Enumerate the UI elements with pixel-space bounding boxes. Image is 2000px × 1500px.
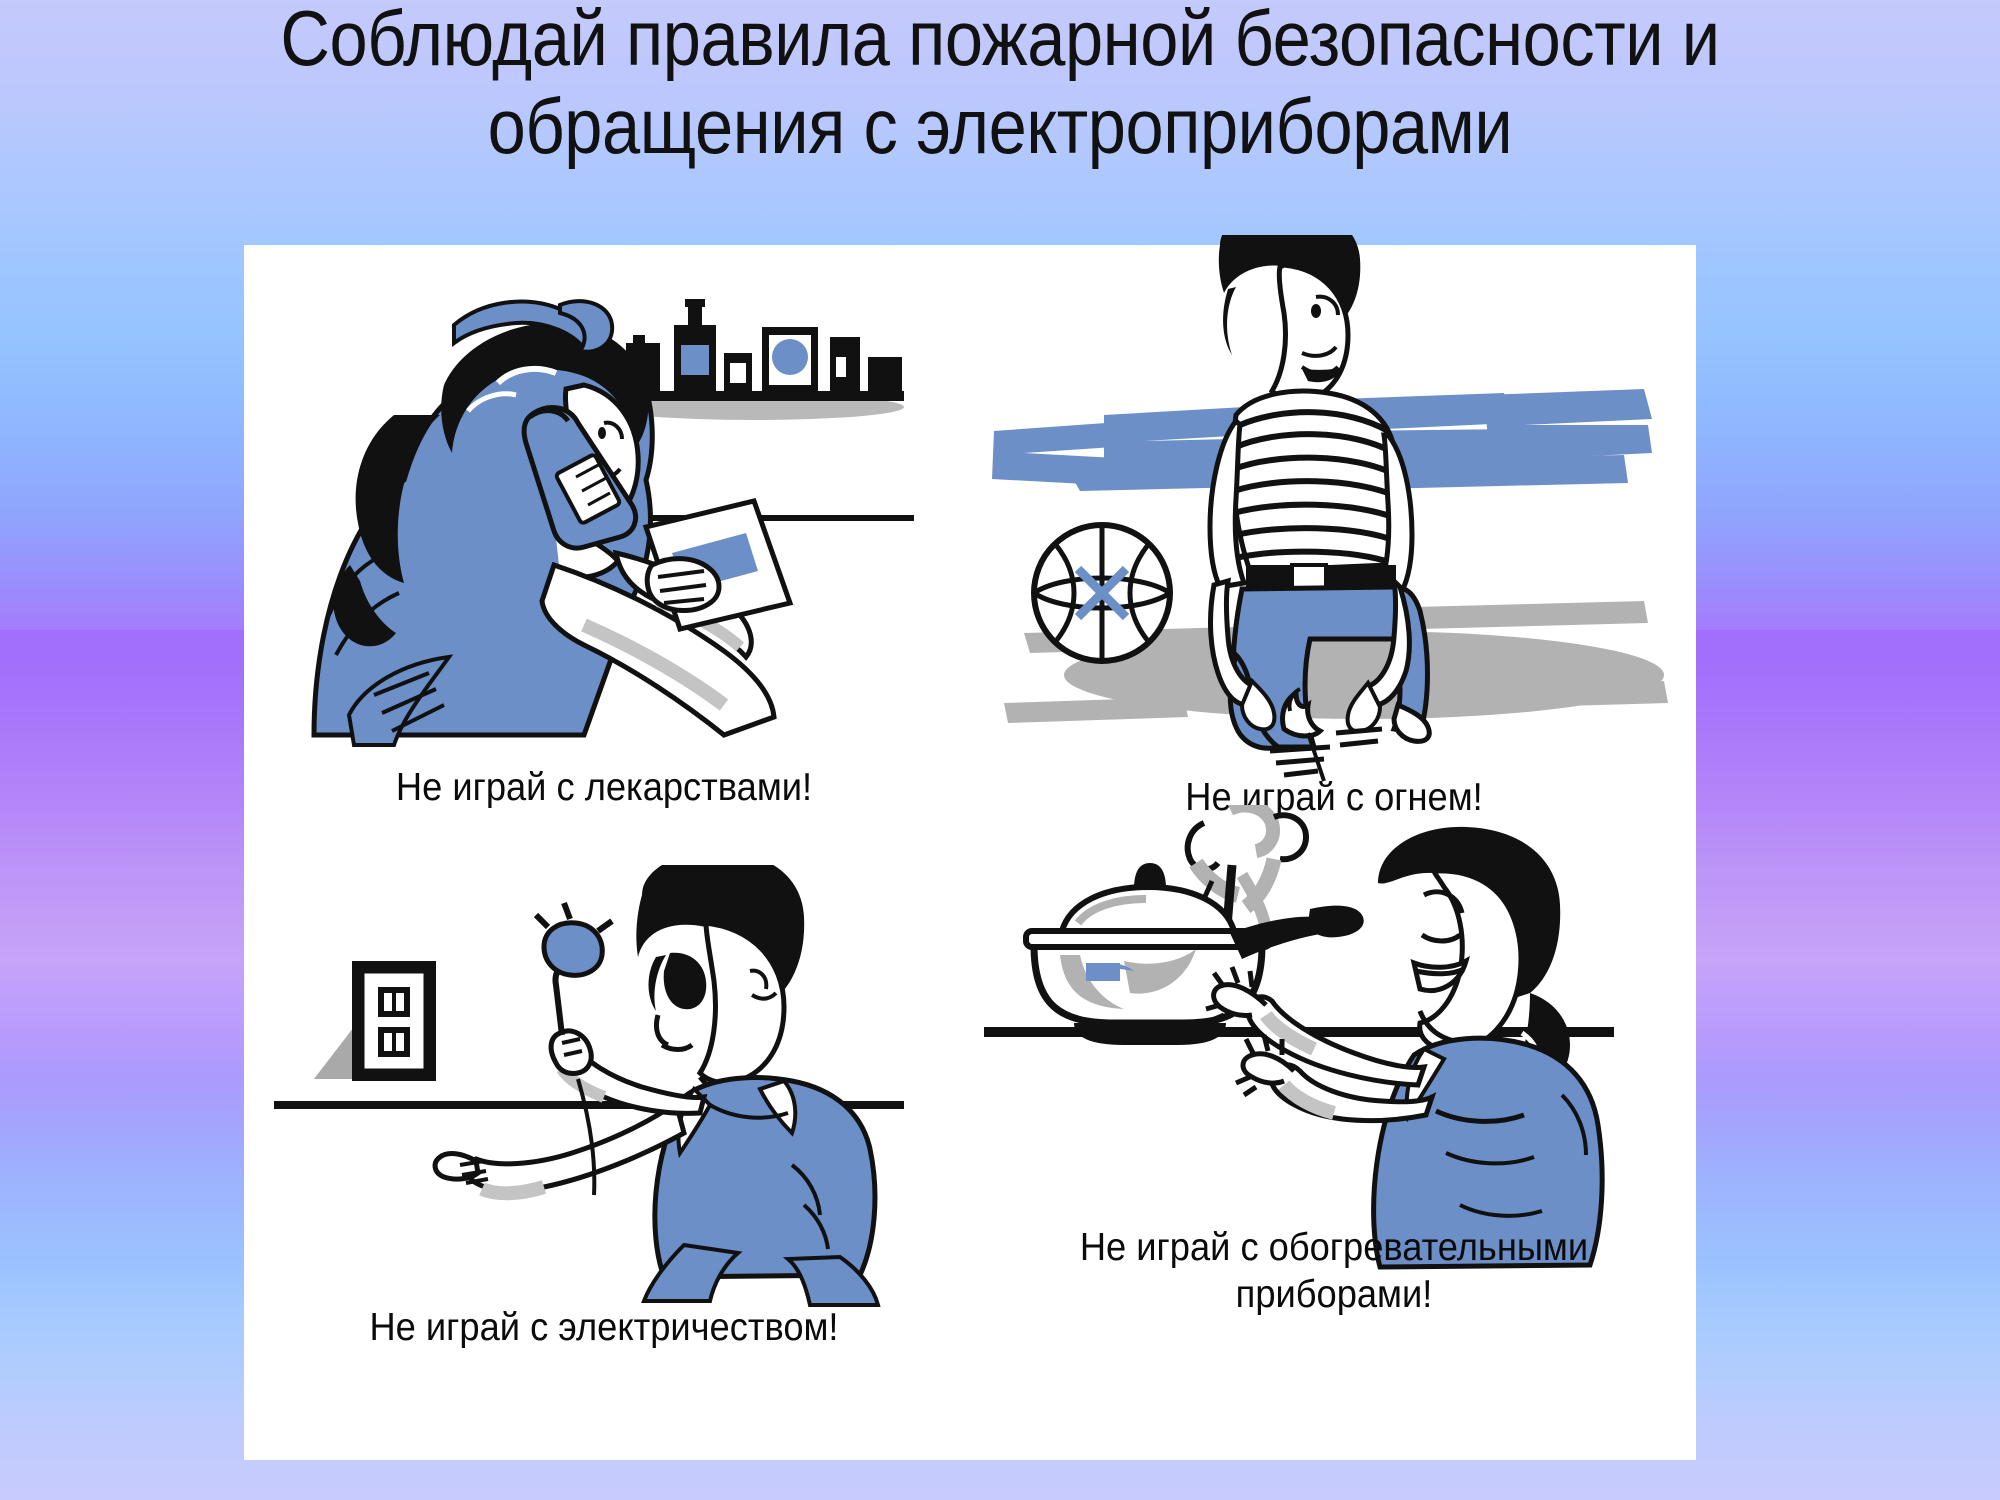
illustration-medicine: Не играй с лекарствами!	[254, 265, 954, 885]
electric-plug	[536, 903, 612, 1074]
boy-figure-electric	[435, 865, 878, 1305]
illustration-electric: Не играй с электричеством!	[244, 865, 964, 1455]
illustration-panel: Не играй с лекарствами!	[244, 245, 1696, 1460]
medicine-artwork	[254, 265, 954, 785]
caption-medicine: Не играй с лекарствами!	[279, 765, 930, 812]
page-title: Соблюдай правила пожарной безопасности и…	[120, 0, 1880, 170]
wall-outlet	[314, 961, 436, 1081]
illustration-heater: Не играй с обогревательными приборами!	[974, 805, 1694, 1455]
heater-artwork	[974, 805, 1694, 1275]
title-line-1: Соблюдай правила пожарной безопасности и	[120, 0, 1880, 82]
caption-electric: Не играй с электричеством!	[269, 1305, 939, 1352]
caption-heater: Не играй с обогревательными приборами!	[999, 1225, 1669, 1319]
fire-artwork	[984, 235, 1684, 795]
slide-canvas: Соблюдай правила пожарной безопасности и…	[0, 0, 2000, 1500]
electric-artwork	[244, 865, 964, 1335]
hand-on-box	[647, 559, 719, 611]
cooking-pot	[1026, 863, 1364, 1045]
illustration-fire: Не играй с огнем!	[984, 235, 1684, 885]
basketball	[1034, 525, 1170, 661]
title-line-2: обращения с электроприборами	[120, 82, 1880, 170]
